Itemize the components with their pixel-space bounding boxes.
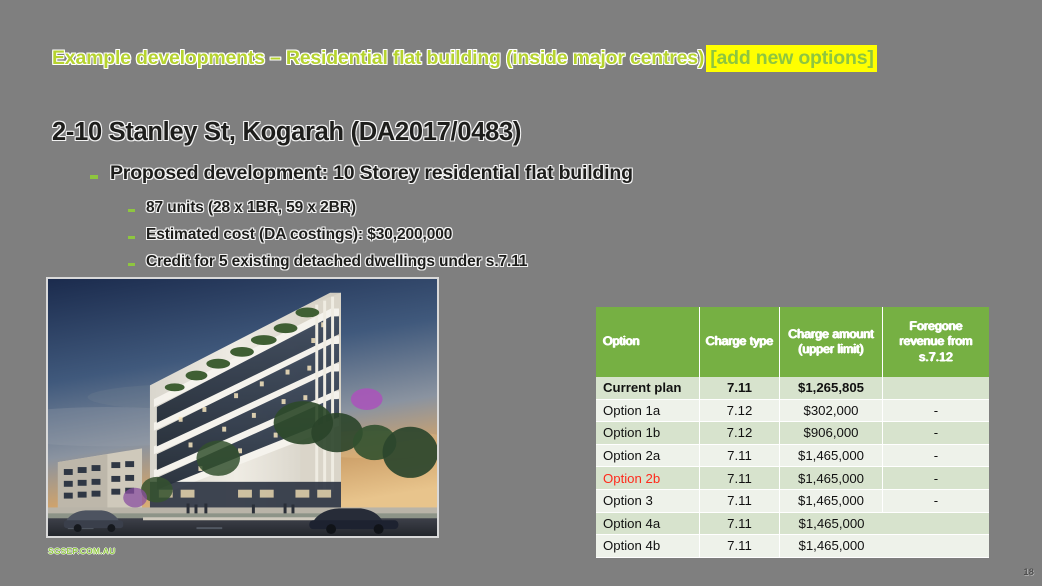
dash-bullet-icon [90,175,98,179]
cell-charge-amount: $906,000 [780,422,883,445]
cell-charge-type: 7.12 [700,422,780,445]
cell-charge-amount: $1,465,000 [780,467,883,490]
cell-foregone: - [883,445,989,468]
cell-option: Option 4b [596,535,700,558]
cell-charge-type: 7.11 [700,513,780,536]
render-illustration [48,279,437,536]
bullet-level2-label: Estimated cost (DA costings): $30,200,00… [146,226,452,244]
development-render-image [46,277,439,538]
slide-title-highlight: [add new options] [706,45,876,72]
cell-charge-amount: $1,465,000 [780,445,883,468]
cell-foregone [883,535,989,558]
cell-foregone: - [883,490,989,513]
bullet-level2-units: 87 units (28 x 1BR, 59 x 2BR) [128,199,356,217]
table-row: Current plan 7.11 $1,265,805 [596,377,989,400]
cell-charge-type: 7.11 [700,535,780,558]
dash-bullet-icon [128,236,135,239]
cell-option: Current plan [596,377,700,400]
bullet-level2-credit: Credit for 5 existing detached dwellings… [128,253,527,271]
cell-foregone: - [883,400,989,423]
slide-title: Example developments – Residential flat … [52,47,992,77]
cell-charge-type: 7.11 [700,490,780,513]
cell-option: Option 2b [596,467,700,490]
column-header-charge-type: Charge type [700,307,780,377]
options-comparison-table: Option Charge type Charge amount (upper … [596,307,989,558]
cell-charge-type: 7.11 [700,377,780,400]
bullet-level2-label: 87 units (28 x 1BR, 59 x 2BR) [146,199,356,217]
cell-foregone: - [883,467,989,490]
cell-foregone: - [883,422,989,445]
cell-option: Option 3 [596,490,700,513]
page-number: 18 [1023,567,1034,578]
cell-foregone [883,377,989,400]
cell-charge-type: 7.11 [700,467,780,490]
bullet-level1-label: Proposed development: 10 Storey resident… [110,162,633,185]
table-row: Option 3 7.11 $1,465,000 - [596,490,989,513]
cell-charge-amount: $1,465,000 [780,535,883,558]
cell-charge-type: 7.11 [700,445,780,468]
table-row: Option 4b 7.11 $1,465,000 [596,535,989,558]
bullet-level2-label: Credit for 5 existing detached dwellings… [146,253,527,271]
column-header-charge-amount: Charge amount (upper limit) [780,307,883,377]
dash-bullet-icon [128,209,135,212]
table-row: Option 1b 7.12 $906,000 - [596,422,989,445]
column-header-option: Option [596,307,700,377]
cell-option: Option 4a [596,513,700,536]
table-row: Option 4a 7.11 $1,465,000 [596,513,989,536]
slide-title-main: Example developments – Residential flat … [52,47,704,69]
cell-charge-amount: $302,000 [780,400,883,423]
cell-charge-amount: $1,465,000 [780,513,883,536]
cell-foregone [883,513,989,536]
table-row: Option 2b 7.11 $1,465,000 - [596,467,989,490]
cell-charge-type: 7.12 [700,400,780,423]
cell-option: Option 1a [596,400,700,423]
dash-bullet-icon [128,263,135,266]
table-row: Option 1a 7.12 $302,000 - [596,400,989,423]
cell-charge-amount: $1,265,805 [780,377,883,400]
page-title: 2-10 Stanley St, Kogarah (DA2017/0483) [52,118,521,147]
cell-option: Option 1b [596,422,700,445]
photo-credit: SGSEP.COM.AU [48,546,115,556]
table-header-row: Option Charge type Charge amount (upper … [596,307,989,377]
cell-option: Option 2a [596,445,700,468]
cell-charge-amount: $1,465,000 [780,490,883,513]
bullet-level1: Proposed development: 10 Storey resident… [90,162,633,185]
bullet-level2-cost: Estimated cost (DA costings): $30,200,00… [128,226,452,244]
table-row: Option 2a 7.11 $1,465,000 - [596,445,989,468]
column-header-foregone-revenue: Foregone revenue from s.7.12 [883,307,989,377]
